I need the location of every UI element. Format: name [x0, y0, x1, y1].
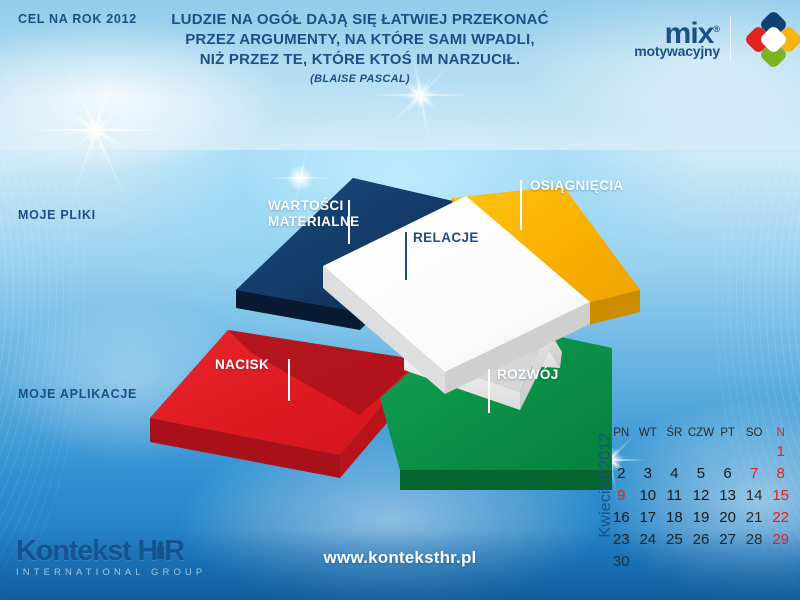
label-nacisk: NACISK — [215, 357, 269, 373]
calendar-week-row: 2345678 — [608, 463, 794, 485]
label-rozwoj: ROZWÓJ — [497, 367, 559, 383]
calendar-day-empty — [714, 441, 741, 463]
website-url[interactable]: www.konteksthr.pl — [250, 548, 550, 568]
brand-name-tail: R — [164, 535, 184, 567]
calendar-day-empty — [741, 441, 768, 463]
leader-line — [348, 200, 350, 244]
calendar-day-7[interactable]: 7 — [741, 463, 768, 485]
person-figure-icon — [156, 541, 165, 563]
calendar-day-3[interactable]: 3 — [635, 463, 662, 485]
calendar-day-12[interactable]: 12 — [688, 485, 715, 507]
brand-tagline: INTERNATIONAL GROUP — [16, 567, 226, 578]
leader-line — [488, 369, 490, 413]
calendar-day-empty — [661, 441, 688, 463]
calendar-day-4[interactable]: 4 — [661, 463, 688, 485]
calendar-day-5[interactable]: 5 — [688, 463, 715, 485]
calendar-day-18[interactable]: 18 — [661, 507, 688, 529]
calendar-weekday-pn: PN — [608, 425, 635, 441]
calendar-weekday-wt: WT — [635, 425, 662, 441]
calendar-weekday-n: N — [767, 425, 794, 441]
kontekst-hr-logo[interactable]: Kontekst HR INTERNATIONAL GROUP — [16, 536, 226, 578]
calendar-day-16[interactable]: 16 — [608, 507, 635, 529]
calendar-day-13[interactable]: 13 — [714, 485, 741, 507]
calendar-header-row: PNWTŚRCZWPTSON — [608, 425, 794, 441]
calendar-day-empty — [635, 441, 662, 463]
calendar-day-17[interactable]: 17 — [635, 507, 662, 529]
label-rozwoj-text: ROZWÓJ — [497, 367, 559, 383]
calendar-weekday-so: SO — [741, 425, 768, 441]
calendar-day-19[interactable]: 19 — [688, 507, 715, 529]
calendar-day-20[interactable]: 20 — [714, 507, 741, 529]
leader-line — [405, 232, 407, 280]
calendar-weekday-pt: PT — [714, 425, 741, 441]
calendar-day-8[interactable]: 8 — [767, 463, 794, 485]
calendar-day-11[interactable]: 11 — [661, 485, 688, 507]
label-osiagniecia-text: OSIĄGNIĘCIA — [530, 178, 624, 194]
label-wartosci-materialne: WARTOŚCI MATERIALNE — [268, 198, 360, 230]
calendar-week-row: 9101112131415 — [608, 485, 794, 507]
calendar-day-9[interactable]: 9 — [608, 485, 635, 507]
label-nacisk-text: NACISK — [215, 357, 269, 373]
brand-name-main: Kontekst H — [16, 535, 157, 567]
calendar-weekday-czw: CZW — [688, 425, 715, 441]
label-relacje: RELACJE — [413, 230, 479, 246]
wallpaper-canvas: CEL NA ROK 2012 LUDZIE NA OGÓŁ DAJĄ SIĘ … — [0, 0, 800, 600]
leader-line — [288, 359, 290, 401]
label-wartosci-line2: MATERIALNE — [268, 214, 360, 230]
calendar-day-21[interactable]: 21 — [741, 507, 768, 529]
calendar-day-15[interactable]: 15 — [767, 485, 794, 507]
label-relacje-text: RELACJE — [413, 230, 479, 246]
calendar-day-10[interactable]: 10 — [635, 485, 662, 507]
calendar-day-14[interactable]: 14 — [741, 485, 768, 507]
calendar-weekday-śr: ŚR — [661, 425, 688, 441]
block-nacisk[interactable] — [150, 330, 420, 478]
leader-line — [520, 180, 522, 230]
calendar-week-row: 16171819202122 — [608, 507, 794, 529]
label-osiagniecia: OSIĄGNIĘCIA — [530, 178, 624, 194]
calendar-day-1[interactable]: 1 — [767, 441, 794, 463]
calendar-day-6[interactable]: 6 — [714, 463, 741, 485]
label-wartosci-line1: WARTOŚCI — [268, 198, 360, 214]
calendar-day-22[interactable]: 22 — [767, 507, 794, 529]
brand-name: Kontekst HR — [16, 536, 226, 566]
calendar-day-empty — [608, 441, 635, 463]
calendar-day-empty — [688, 441, 715, 463]
calendar-day-2[interactable]: 2 — [608, 463, 635, 485]
calendar-week-row: 1 — [608, 441, 794, 463]
